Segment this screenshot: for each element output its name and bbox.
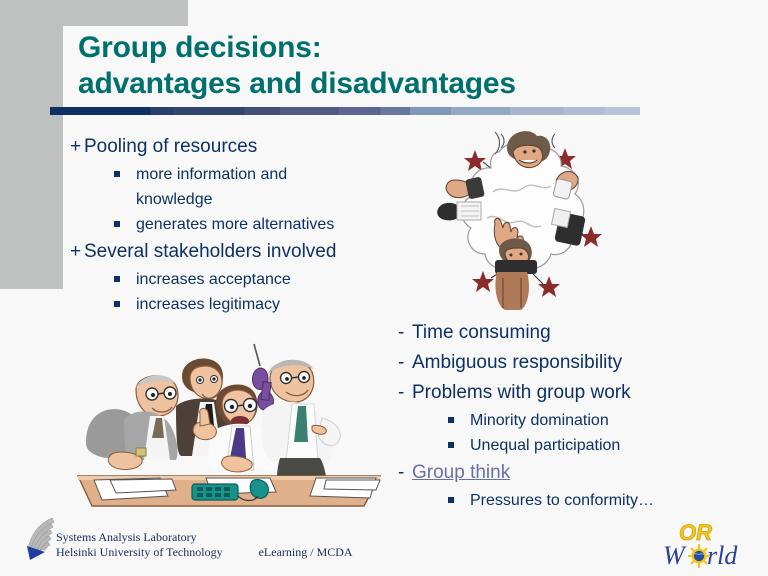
list-item-disadvantage: -Time consuming	[398, 318, 764, 348]
decorative-gray-block-left	[0, 0, 63, 289]
list-item-label: Ambiguous responsibility	[412, 352, 622, 373]
list-item-sub: Minority domination	[398, 408, 764, 433]
list-item-sub: generates more alternatives	[70, 212, 400, 237]
square-bullet-icon	[114, 221, 120, 227]
advantages-list: +Pooling of resources more information a…	[70, 132, 400, 317]
square-bullet-icon	[114, 301, 120, 307]
list-item-label: Pooling of resources	[84, 136, 257, 157]
list-item-label: Pressures to conformity…	[448, 488, 654, 513]
list-item-label: more information and	[114, 166, 287, 183]
title-line-2: advantages and disadvantages	[78, 66, 698, 102]
list-item-label: Time consuming	[412, 322, 551, 343]
list-item-sub-continuation: knowledge	[70, 187, 400, 212]
list-item-disadvantage: -Ambiguous responsibility	[398, 348, 764, 378]
title-gradient-rule	[50, 107, 640, 115]
square-bullet-icon	[448, 497, 454, 503]
group-think-link[interactable]: Group think	[412, 462, 510, 483]
list-item-disadvantage-link: -Group think	[398, 458, 764, 488]
list-item-sub: Pressures to conformity…	[398, 488, 764, 513]
list-item-advantage: +Pooling of resources	[70, 132, 400, 162]
square-bullet-icon	[448, 442, 454, 448]
list-item-label: Problems with group work	[412, 382, 631, 403]
disadvantages-list: -Time consuming -Ambiguous responsibilit…	[398, 318, 764, 513]
minus-mark: -	[398, 458, 412, 488]
list-item-label: Several stakeholders involved	[84, 241, 336, 262]
list-item-sub: increases acceptance	[70, 267, 400, 292]
list-item-label: increases legitimacy	[114, 292, 280, 317]
plus-mark: +	[70, 237, 84, 267]
list-item-sub: Unequal participation	[398, 433, 764, 458]
list-item-disadvantage: -Problems with group work	[398, 378, 764, 408]
or-world-logo: OR W rld	[655, 516, 763, 572]
list-item-advantage: +Several stakeholders involved	[70, 237, 400, 267]
footer-line-2: Helsinki University of Technology	[56, 545, 223, 559]
list-item-sub: increases legitimacy	[70, 292, 400, 317]
list-item-sub: more information and	[70, 162, 400, 187]
slide-canvas: Group decisions: advantages and disadvan…	[0, 0, 768, 576]
list-item-label: generates more alternatives	[114, 212, 334, 237]
list-item-label: Unequal participation	[448, 433, 620, 458]
square-bullet-icon	[114, 276, 120, 282]
list-item-label: Minority domination	[448, 408, 609, 433]
page-title: Group decisions: advantages and disadvan…	[78, 30, 698, 102]
world-logo-text-w: W	[663, 541, 687, 570]
world-logo-text-rld: rld	[707, 541, 738, 570]
list-item-label: increases acceptance	[114, 267, 291, 292]
footer-course-label: eLearning / MCDA	[223, 545, 353, 559]
minus-mark: -	[398, 318, 412, 348]
fight-cloud-illustration	[437, 118, 605, 313]
square-bullet-icon	[114, 171, 120, 177]
footer-line-1: Systems Analysis Laboratory	[56, 530, 353, 545]
business-meeting-illustration	[64, 330, 394, 510]
title-line-1: Group decisions:	[78, 31, 322, 64]
footer-credits: Systems Analysis Laboratory Helsinki Uni…	[56, 530, 353, 560]
minus-mark: -	[398, 348, 412, 378]
plus-mark: +	[70, 132, 84, 162]
minus-mark: -	[398, 378, 412, 408]
square-bullet-icon	[448, 417, 454, 423]
